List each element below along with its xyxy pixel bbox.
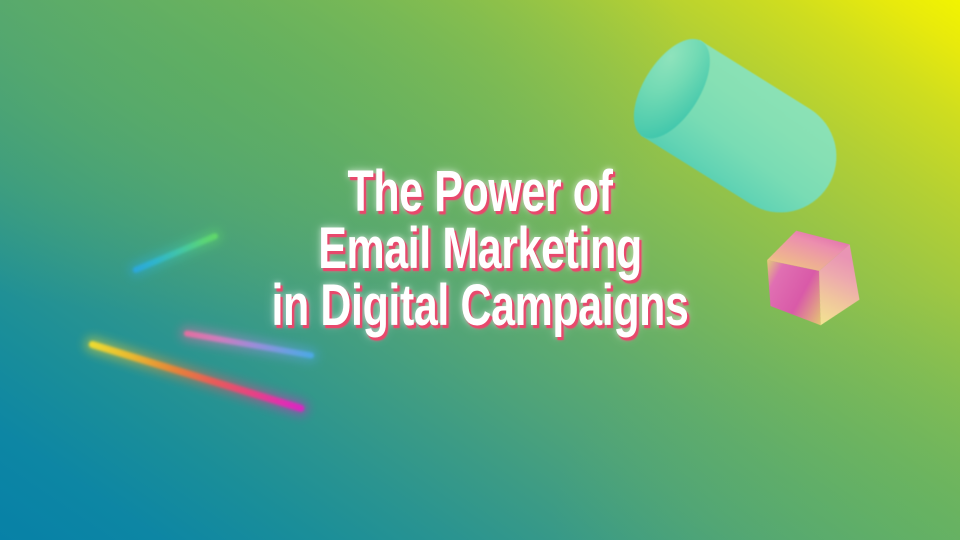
cube-shape-icon [755, 220, 869, 337]
slide-title-line-2: Email Marketing [125, 220, 835, 277]
gradient-line-blue-green-icon [132, 232, 219, 273]
slide-title-line-3: in Digital Campaigns [125, 277, 835, 334]
cylinder-shape-icon [618, 26, 857, 233]
presentation-slide: The Power of Email Marketing in Digital … [0, 0, 960, 540]
gradient-line-pink-blue-icon [183, 330, 314, 359]
